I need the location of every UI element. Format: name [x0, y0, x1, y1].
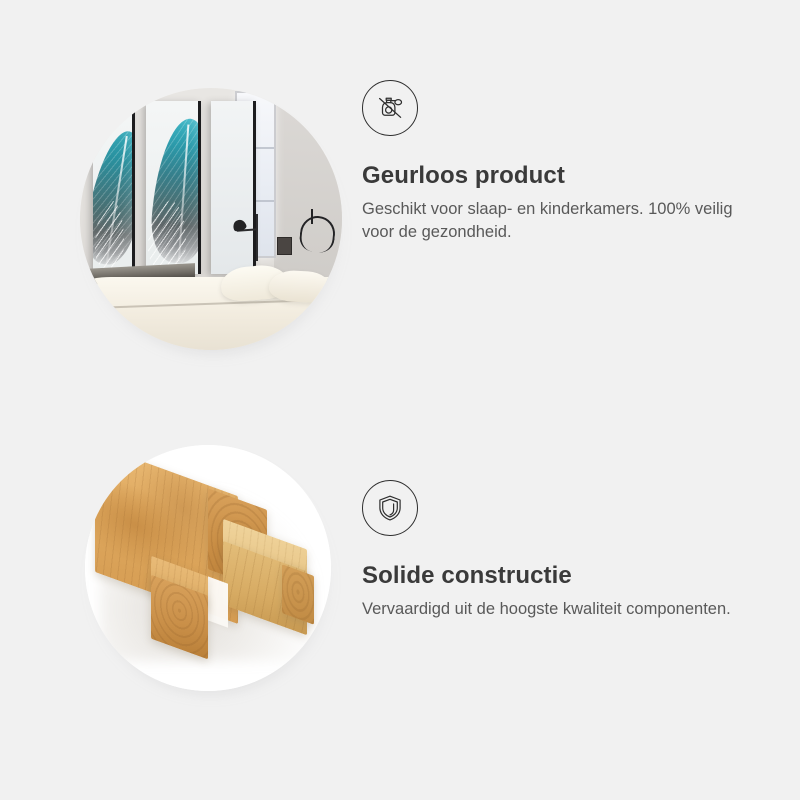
feature-text-column: Solide constructie Vervaardigd uit de ho… [362, 480, 762, 621]
no-fragrance-icon [362, 80, 418, 136]
product-feature-page: Geurloos product Geschikt voor slaap- en… [0, 0, 800, 800]
photo-circle-mask [85, 445, 331, 691]
feature-image-bedroom [80, 88, 342, 350]
wooden-blocks-scene [85, 445, 331, 691]
feature-description: Vervaardigd uit de hoogste kwaliteit com… [362, 598, 742, 621]
canvas-panel-right [211, 101, 256, 274]
shield-icon [362, 480, 418, 536]
bedroom-small-picture [277, 237, 292, 255]
bedroom-scene [80, 88, 342, 350]
canvas-panel-left [93, 101, 135, 274]
bedroom-lamp-stem [256, 214, 258, 261]
feature-block-solide-constructie: Solide constructie Vervaardigd uit de ho… [0, 420, 800, 720]
feature-text-column: Geurloos product Geschikt voor slaap- en… [362, 80, 762, 244]
feature-description: Geschikt voor slaap- en kinderkamers. 10… [362, 198, 742, 245]
feature-image-wooden-blocks [85, 445, 331, 691]
feature-title: Solide constructie [362, 562, 762, 590]
wood-gap-highlight [208, 577, 228, 628]
photo-circle-mask [80, 88, 342, 350]
canvas-panel-middle [146, 101, 201, 274]
feature-title: Geurloos product [362, 162, 762, 190]
feature-block-geurloos-product: Geurloos product Geschikt voor slaap- en… [0, 60, 800, 380]
